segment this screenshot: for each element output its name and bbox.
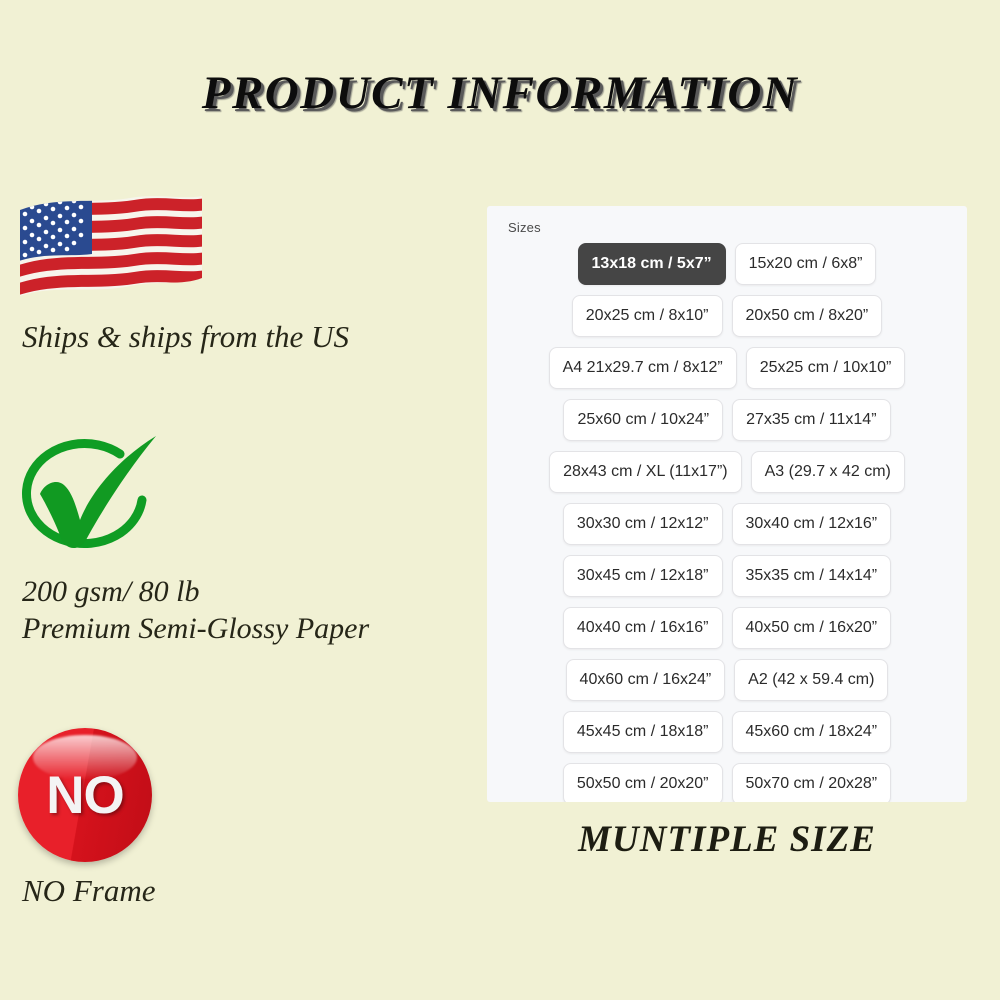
- size-chip[interactable]: A3 (29.7 x 42 cm): [751, 451, 905, 493]
- size-chip[interactable]: 20x25 cm / 8x10”: [572, 295, 723, 337]
- size-chip[interactable]: 27x35 cm / 11x14”: [732, 399, 890, 441]
- feature-shipping-caption: Ships & ships from the US: [0, 318, 480, 356]
- size-chip[interactable]: A4 21x29.7 cm / 8x12”: [549, 347, 737, 389]
- size-chip[interactable]: 50x50 cm / 20x20”: [563, 763, 723, 802]
- size-picker-label: Sizes: [508, 220, 957, 235]
- size-chip[interactable]: 40x40 cm / 16x16”: [563, 607, 723, 649]
- page-title: PRODUCT INFORMATION: [0, 66, 1000, 120]
- size-chip[interactable]: 25x25 cm / 10x10”: [746, 347, 906, 389]
- feature-paper: 200 gsm/ 80 lb Premium Semi-Glossy Paper: [0, 428, 480, 647]
- feature-frame-caption: NO Frame: [0, 872, 480, 910]
- size-chip[interactable]: 35x35 cm / 14x14”: [732, 555, 892, 597]
- size-chip[interactable]: 40x50 cm / 16x20”: [732, 607, 892, 649]
- feature-paper-caption-line1: 200 gsm/ 80 lb: [0, 574, 480, 611]
- features-column: Ships & ships from the US 200 gsm/ 80 lb…: [0, 180, 480, 940]
- size-chip[interactable]: 40x60 cm / 16x24”: [566, 659, 726, 701]
- size-chip[interactable]: 13x18 cm / 5x7”: [578, 243, 726, 285]
- us-flag-icon: [16, 192, 206, 310]
- size-chip[interactable]: 20x50 cm / 8x20”: [732, 295, 883, 337]
- size-chip[interactable]: 45x45 cm / 18x18”: [563, 711, 723, 753]
- green-check-icon: [14, 428, 174, 568]
- feature-frame: NO NO Frame: [0, 728, 480, 910]
- size-chip[interactable]: 30x45 cm / 12x18”: [563, 555, 723, 597]
- size-chip[interactable]: 30x30 cm / 12x12”: [563, 503, 723, 545]
- no-badge-icon: NO: [18, 728, 152, 862]
- size-options-list: 13x18 cm / 5x7”15x20 cm / 6x8”20x25 cm /…: [497, 243, 957, 802]
- size-chip[interactable]: 45x60 cm / 18x24”: [732, 711, 892, 753]
- size-chip[interactable]: 50x70 cm / 20x28”: [732, 763, 892, 802]
- size-chip[interactable]: 15x20 cm / 6x8”: [735, 243, 877, 285]
- panel-caption: MUNTIPLE SIZE: [487, 818, 967, 861]
- size-chip[interactable]: 30x40 cm / 12x16”: [732, 503, 892, 545]
- size-chip[interactable]: 25x60 cm / 10x24”: [563, 399, 723, 441]
- feature-paper-caption-line2: Premium Semi-Glossy Paper: [0, 611, 480, 648]
- size-chip[interactable]: A2 (42 x 59.4 cm): [734, 659, 888, 701]
- feature-shipping: Ships & ships from the US: [0, 192, 480, 356]
- size-picker-panel: Sizes 13x18 cm / 5x7”15x20 cm / 6x8”20x2…: [487, 206, 967, 802]
- size-chip[interactable]: 28x43 cm / XL (11x17”): [549, 451, 742, 493]
- no-badge-text: NO: [18, 728, 152, 862]
